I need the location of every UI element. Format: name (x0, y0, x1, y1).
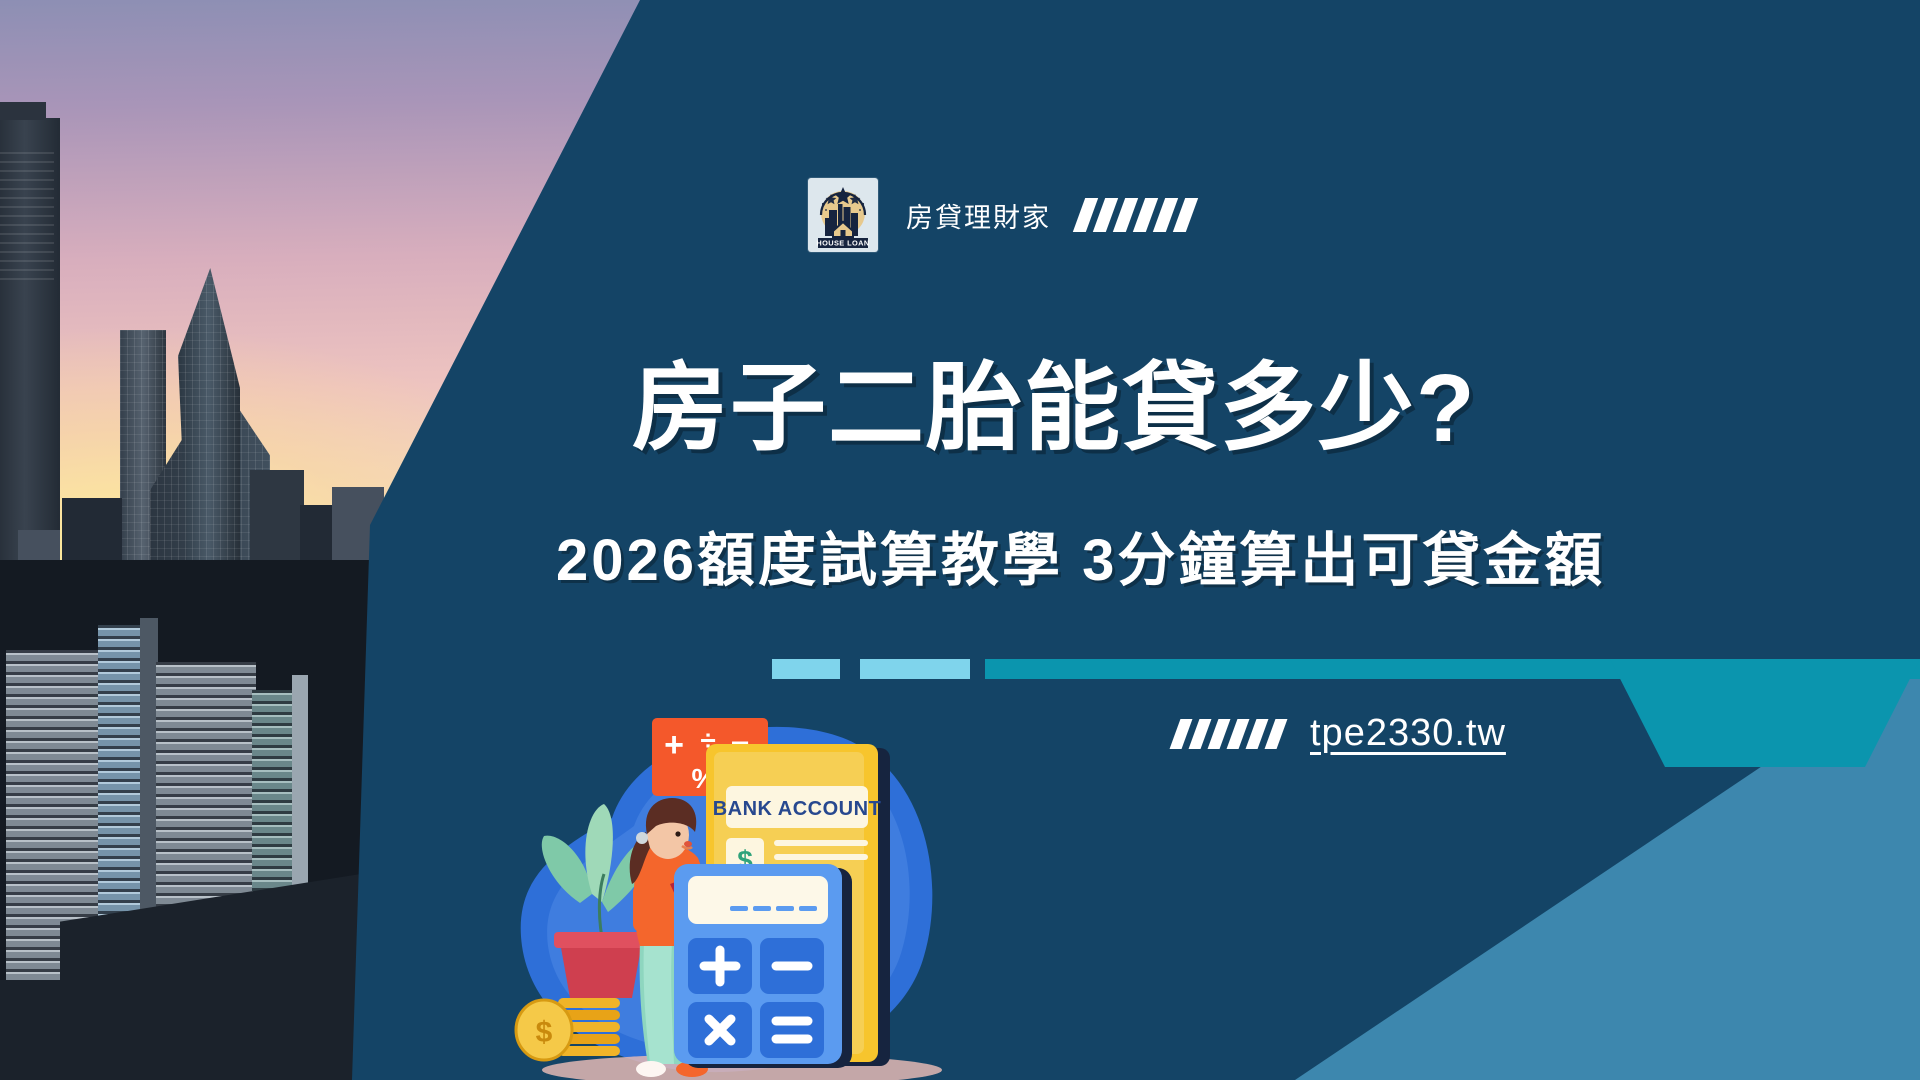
website-url-link[interactable]: tpe2330.tw (1310, 712, 1506, 755)
house-loan-badge-icon: HOUSE LOAN (808, 178, 878, 252)
banner-canvas: HOUSE LOAN 房貸理財家 房子二胎能貸多少? 2026額度試算教學 3分… (0, 0, 1920, 1080)
brand-name: 房貸理財家 (906, 196, 1051, 235)
svg-text:HOUSE LOAN: HOUSE LOAN (816, 239, 869, 248)
svg-text:$: $ (536, 1016, 553, 1049)
svg-text:+: + (664, 726, 684, 764)
divider-dash-2 (860, 659, 970, 679)
page-title: 房子二胎能貸多少? (632, 330, 1477, 469)
finance-illustration: $ (492, 698, 972, 1080)
divider-dash-1 (772, 659, 840, 679)
brand-logo-row: HOUSE LOAN 房貸理財家 (808, 178, 1192, 252)
svg-text:BANK ACCOUNT: BANK ACCOUNT (713, 798, 882, 820)
rooftop-shadow (0, 980, 380, 1080)
calculator-icon (674, 864, 852, 1068)
page-subtitle: 2026額度試算教學 3分鐘算出可貸金額 (556, 513, 1605, 597)
url-slash-accent-icon (1175, 719, 1282, 749)
website-row: tpe2330.tw (1175, 712, 1506, 755)
gold-coins-icon: $ (516, 998, 620, 1060)
brand-slash-accent-icon (1079, 198, 1192, 232)
